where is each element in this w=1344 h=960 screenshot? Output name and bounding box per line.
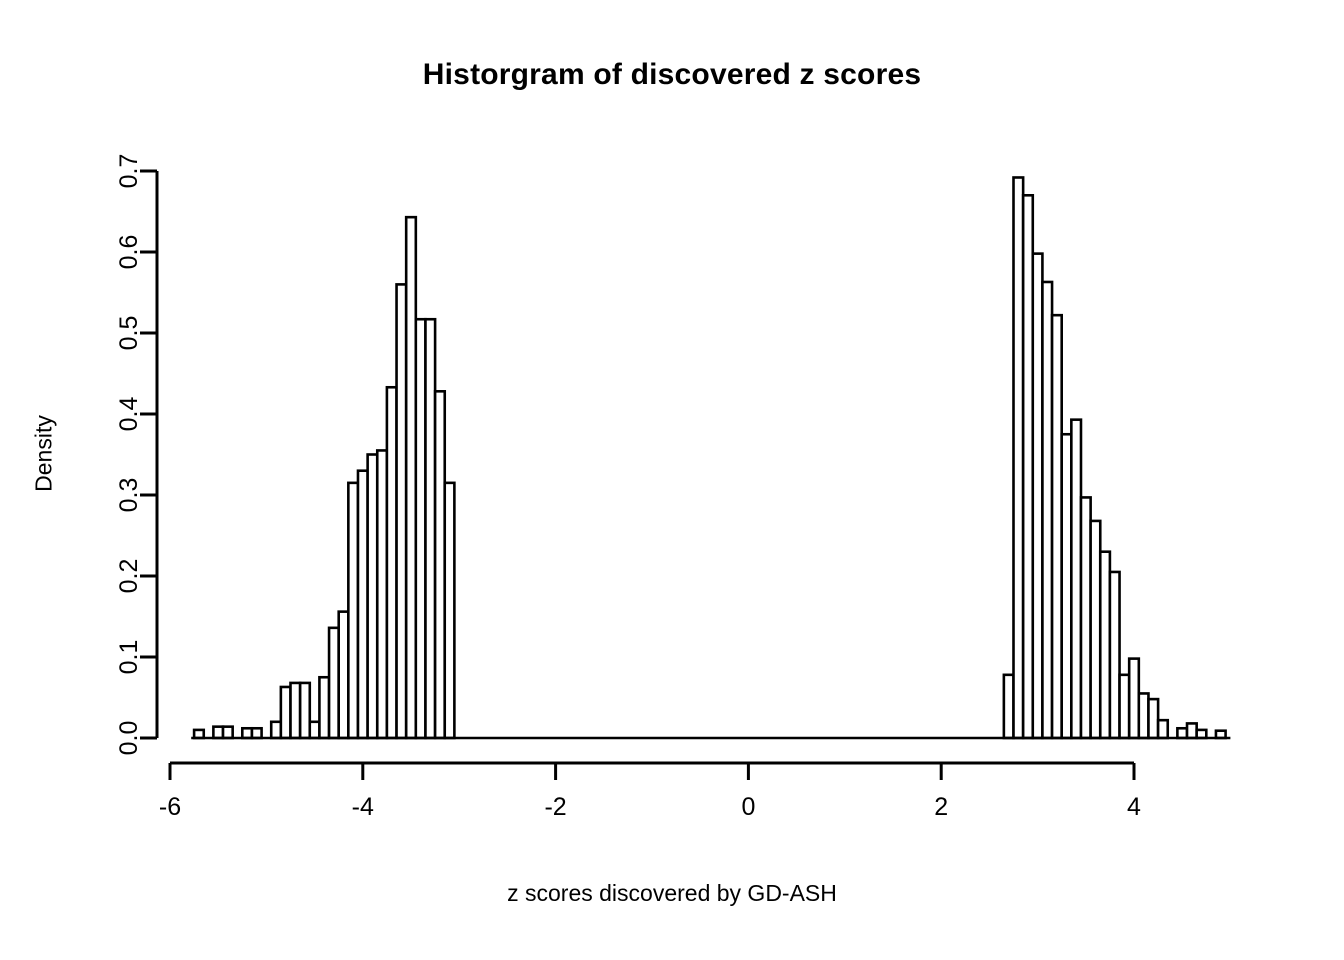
histogram-bar — [397, 284, 407, 738]
histogram-bar — [1091, 521, 1101, 738]
histogram-bar — [300, 683, 310, 738]
histogram-bar — [1052, 315, 1062, 738]
x-axis — [170, 763, 1134, 780]
histogram-bar — [223, 727, 233, 738]
histogram-bar — [271, 722, 281, 738]
histogram-bar — [1004, 675, 1014, 738]
x-axis-tick-label: 4 — [1127, 793, 1141, 821]
y-axis-tick-label: 0.3 — [115, 478, 143, 513]
histogram-bar — [377, 450, 387, 738]
y-axis-tick-label: 0.0 — [115, 721, 143, 756]
histogram-bar — [252, 728, 262, 738]
histogram-bar — [1120, 675, 1130, 738]
y-axis-tick-label: 0.2 — [115, 559, 143, 594]
histogram-bar — [425, 319, 435, 738]
histogram-bar — [1062, 434, 1072, 738]
y-axis-tick-labels: 0.00.10.20.30.40.50.60.7 — [115, 154, 143, 756]
histogram-bar — [1187, 723, 1197, 738]
y-axis-tick-label: 0.1 — [115, 640, 143, 675]
x-axis-tick-label: -6 — [159, 793, 181, 821]
histogram-bar — [435, 391, 445, 738]
histogram-bar — [416, 319, 426, 738]
y-axis-tick-label: 0.5 — [115, 316, 143, 351]
y-axis-tick-label: 0.4 — [115, 397, 143, 432]
histogram-bar — [1033, 254, 1043, 738]
histogram-bar — [1148, 699, 1158, 738]
x-axis-tick-label: 2 — [934, 793, 948, 821]
histogram-bar — [1177, 728, 1187, 738]
histogram-bar — [1023, 195, 1033, 738]
histogram-bar — [406, 217, 416, 738]
bars-left-cluster — [194, 217, 454, 738]
histogram-bar — [1071, 420, 1081, 738]
histogram-bar — [242, 728, 252, 738]
histogram-bar — [281, 687, 291, 738]
histogram-bar — [387, 387, 397, 738]
histogram-bar — [1139, 693, 1149, 738]
histogram-bar — [1081, 497, 1091, 738]
x-axis-tick-label: -2 — [544, 793, 566, 821]
histogram-bar — [1158, 720, 1168, 738]
histogram-bar — [310, 722, 320, 738]
histogram-bar — [319, 677, 329, 738]
x-axis-tick-labels: -6-4-2024 — [159, 793, 1141, 821]
histogram-bar — [445, 483, 455, 738]
histogram-bar — [1100, 552, 1110, 738]
x-axis-tick-label: -4 — [352, 793, 374, 821]
histogram-bar — [1014, 177, 1024, 738]
histogram-bar — [213, 727, 223, 738]
histogram-bar — [358, 471, 368, 738]
histogram-bar — [1129, 659, 1139, 738]
histogram-bar — [1110, 572, 1120, 738]
y-axis-tick-label: 0.6 — [115, 235, 143, 270]
histogram-bar — [1042, 282, 1052, 738]
bars-right-cluster — [1004, 177, 1226, 738]
histogram-bar — [291, 683, 301, 738]
x-axis-tick-label: 0 — [741, 793, 755, 821]
plot-area: 0.00.10.20.30.40.50.60.7 -6-4-2024 — [0, 0, 1344, 960]
histogram-bar — [329, 628, 339, 738]
y-axis-tick-label: 0.7 — [115, 154, 143, 189]
histogram-figure: Historgram of discovered z scores Densit… — [0, 0, 1344, 960]
histogram-bar — [348, 483, 358, 738]
histogram-bar — [368, 455, 378, 739]
histogram-bar — [339, 612, 349, 738]
